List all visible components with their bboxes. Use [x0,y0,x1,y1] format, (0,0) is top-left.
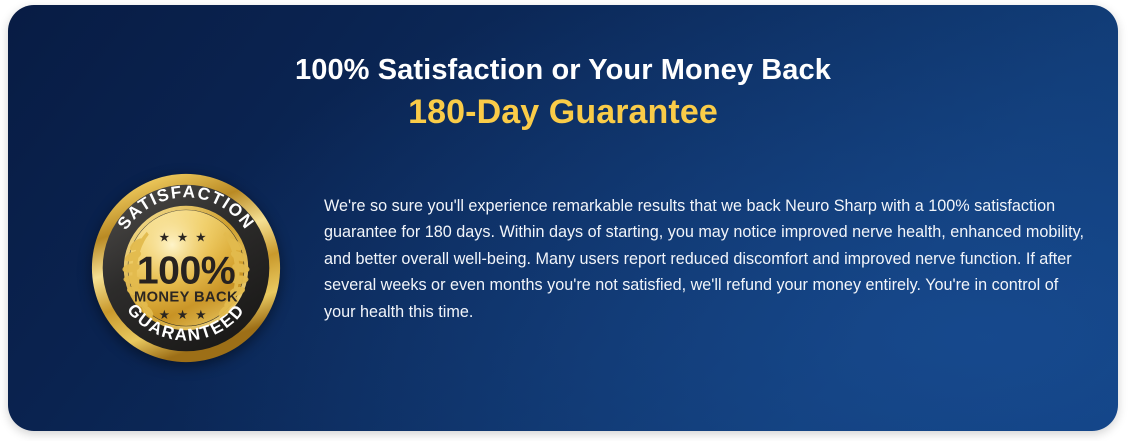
badge-percent-text: 100% [137,250,235,293]
guarantee-card: 100% Satisfaction or Your Money Back 180… [8,5,1118,431]
badge-stars-top: ★★★ [159,231,214,246]
guarantee-duration-title: 180-Day Guarantee [8,91,1118,133]
page-title: 100% Satisfaction or Your Money Back [8,52,1118,88]
badge-money-back-text: MONEY BACK [134,289,238,305]
guarantee-description: We're so sure you'll experience remarkab… [324,193,1086,325]
screenshot-stage: 100% Satisfaction or Your Money Back 180… [0,0,1133,441]
heading-block: 100% Satisfaction or Your Money Back 180… [8,52,1118,133]
guarantee-badge: SATISFACTION GUARANTEED [88,170,284,366]
guarantee-seal-icon: SATISFACTION GUARANTEED [88,170,284,366]
badge-stars-bottom: ★★★ [159,308,214,323]
